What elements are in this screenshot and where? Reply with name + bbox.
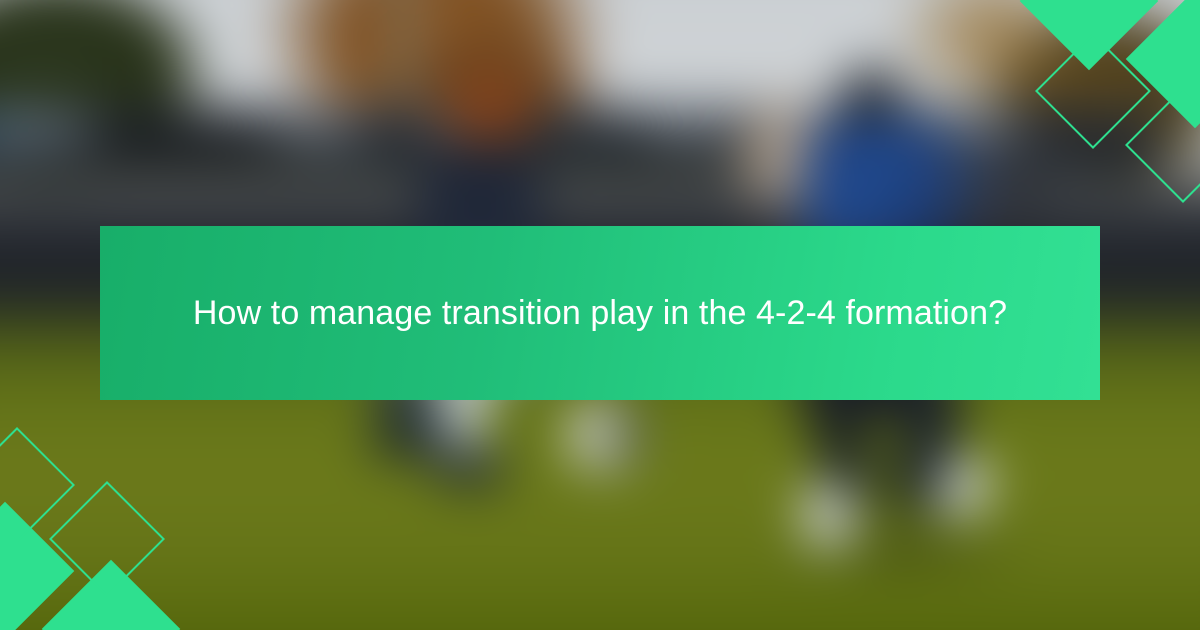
share-card: How to manage transition play in the 4-2… xyxy=(0,0,1200,630)
decoration-cluster-bottom-left xyxy=(0,445,200,630)
defender-sock xyxy=(803,483,853,549)
spectator-highlight xyxy=(0,118,100,142)
spectator-highlight xyxy=(640,118,735,142)
title-banner: How to manage transition play in the 4-2… xyxy=(100,226,1100,400)
page-title: How to manage transition play in the 4-2… xyxy=(193,287,1007,340)
soccer-ball-panel xyxy=(604,410,638,456)
spectator-highlight xyxy=(270,118,360,142)
decoration-cluster-top-right xyxy=(1000,0,1200,185)
diamond-outline-icon xyxy=(49,481,165,597)
player-shadow xyxy=(760,525,1040,573)
